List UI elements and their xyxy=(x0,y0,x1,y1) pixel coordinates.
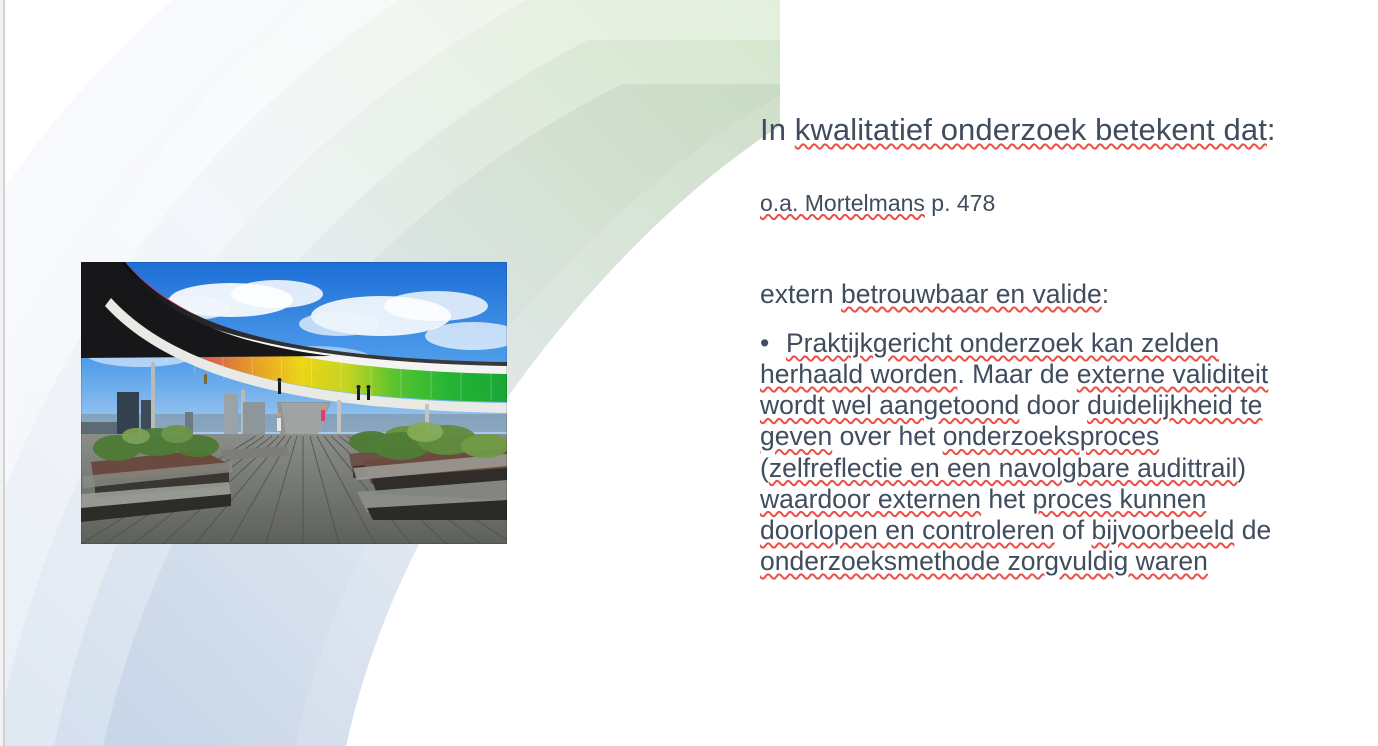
bullet-segment-6: onderzoeksproces xyxy=(943,421,1160,451)
rainbow-panorama-rooftop-photo xyxy=(81,262,507,544)
bullet-segment-1: . Maar de xyxy=(957,359,1076,389)
source-page: p. 478 xyxy=(925,190,995,216)
slide-source-reference: o.a. Mortelmans p. 478 xyxy=(760,190,1305,218)
bullet-segment-8: zelfreflectie en een navolgbare audittra… xyxy=(769,453,1237,483)
slide-lead-line: extern betrouwbaar en valide: xyxy=(760,279,1305,311)
bullet-segment-11: het xyxy=(981,484,1033,514)
source-author: o.a. Mortelmans xyxy=(760,190,925,216)
heading-prefix: In xyxy=(760,112,795,147)
bullet-segment-10: waardoor externen xyxy=(760,484,981,514)
bullet-segment-16: onderzoeksmethode zorgvuldig waren xyxy=(760,546,1208,576)
bullet-segment-15: de xyxy=(1234,515,1271,545)
bullet-segment-7: ( xyxy=(760,453,769,483)
bullet-segment-14: bijvoorbeeld xyxy=(1092,515,1235,545)
slide-canvas: In kwalitatief onderzoek betekent dat: o… xyxy=(0,0,1378,746)
bullet-segment-3: door xyxy=(1019,390,1087,420)
slide-text-column: In kwalitatief onderzoek betekent dat: o… xyxy=(760,112,1305,577)
heading-spellchecked-phrase: kwalitatief onderzoek betekent dat xyxy=(795,112,1267,147)
heading-suffix: : xyxy=(1267,112,1276,147)
lead-plain: extern xyxy=(760,279,841,309)
slide-left-edge-rule xyxy=(3,0,5,746)
lead-spellchecked-phrase: betrouwbaar en valide xyxy=(841,279,1102,309)
bullet-segment-5: over het xyxy=(832,421,942,451)
bullet-marker-icon: • xyxy=(760,328,786,359)
bullet-body-text: Praktijkgericht onderzoek kan zelden her… xyxy=(760,328,1271,576)
bullet-list-item: •Praktijkgericht onderzoek kan zelden he… xyxy=(760,328,1305,577)
slide-heading: In kwalitatief onderzoek betekent dat: xyxy=(760,112,1305,148)
bullet-segment-9: ) xyxy=(1237,453,1246,483)
lead-suffix: : xyxy=(1102,279,1109,309)
bullet-segment-13: of xyxy=(1055,515,1092,545)
